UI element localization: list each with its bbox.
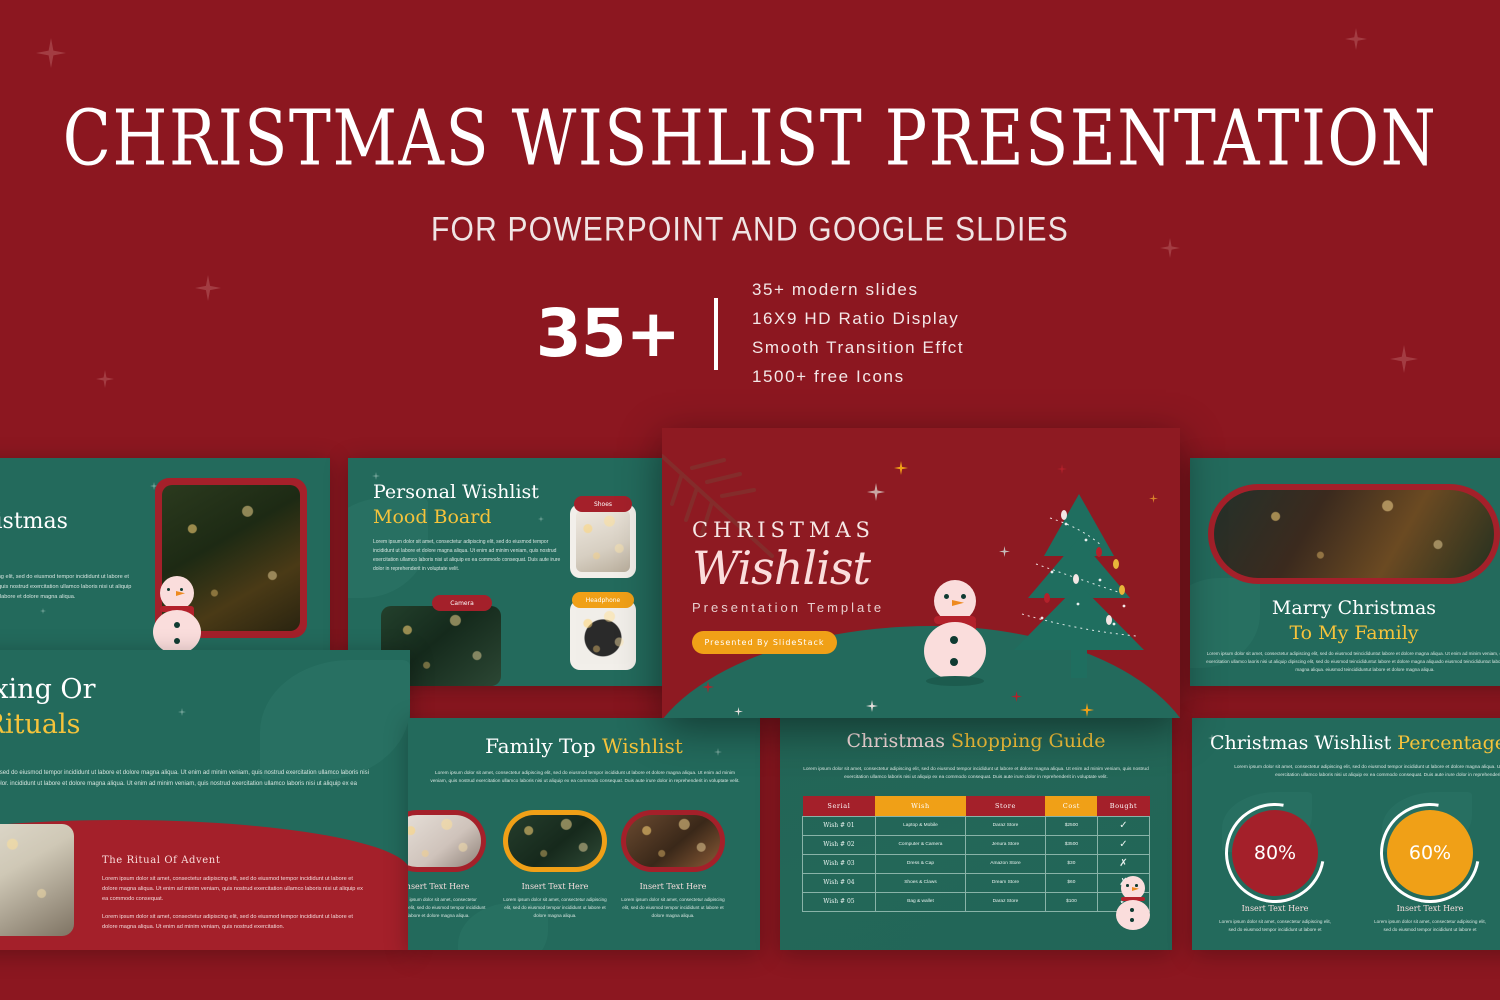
sparkle-icon xyxy=(999,546,1010,557)
col-bought: Bought xyxy=(1097,796,1149,816)
table-row: Wish # 01 Laptop & Mobile Daraz Store $2… xyxy=(803,816,1150,835)
sparkle-icon xyxy=(1149,494,1158,503)
slide-wishlist-percentage[interactable]: Christmas Wishlist Percentage Lorem ipsu… xyxy=(1192,718,1500,950)
cell-bought: ✓ xyxy=(1097,816,1149,835)
family-card-3 xyxy=(621,810,725,872)
shopping-table-wrap: Serial Wish Store Cost Bought Wish # 01 … xyxy=(802,796,1150,912)
mood-card-headphone xyxy=(570,600,636,670)
slide-mood-title-1: Personal Wishlist xyxy=(373,480,563,505)
feature-item: Smooth Transition Effct xyxy=(752,338,964,358)
feature-item: 16X9 HD Ratio Display xyxy=(752,309,964,329)
slide-merry-christmas[interactable]: Merry Christmas Everyone! Lorem ipsum do… xyxy=(0,458,330,658)
table-row: Wish # 03 Dress & Cap Amazon Store $30 ✗ xyxy=(803,854,1150,873)
cell-store: Daraz Store xyxy=(966,892,1046,911)
table-row: Wish # 02 Computer & Camera Jenura Store… xyxy=(803,835,1150,854)
cell-serial: Wish # 03 xyxy=(803,854,876,873)
slide-marry-title-1: Marry Christmas xyxy=(1208,596,1500,621)
mood-tag-camera: Camera xyxy=(432,595,492,611)
table-header-row: Serial Wish Store Cost Bought xyxy=(803,796,1150,816)
cell-serial: Wish # 01 xyxy=(803,816,876,835)
donut-heading: Insert Text Here xyxy=(1218,904,1332,913)
family-col-text: Lorem ipsum dolor sit amet, consectetur … xyxy=(408,896,486,920)
poster-stage: CHRISTMAS WISHLIST PRESENTATION FOR POWE… xyxy=(0,0,1500,1000)
donut-text: Lorem ipsum dolor sit amet, consectetur … xyxy=(1218,918,1332,934)
family-card-1 xyxy=(408,810,486,872)
slide-gift-unboxing[interactable]: Gift Unboxing Or Opening Rituals Lorem i… xyxy=(0,650,410,950)
cell-cost: $2500 xyxy=(1045,816,1097,835)
featured-subtitle: Presentation Template xyxy=(692,600,932,615)
slide-marry-family[interactable]: Marry Christmas To My Family Lorem ipsum… xyxy=(1190,458,1500,686)
donut-chart-1: 80% xyxy=(1232,810,1318,896)
cell-serial: Wish # 02 xyxy=(803,835,876,854)
christmas-tree-icon xyxy=(1014,494,1144,684)
slide-shopping-title-gold: Shopping Guide xyxy=(951,730,1105,752)
slide-count: 35+ xyxy=(536,301,680,367)
cell-wish: Bag & wallet xyxy=(875,892,965,911)
feature-strip: 35+ 35+ modern slides 16X9 HD Ratio Disp… xyxy=(0,280,1500,387)
family-col-text: Lorem ipsum dolor sit amet, consectetur … xyxy=(621,896,725,920)
slide-unboxing-title-2: Opening Rituals xyxy=(0,707,290,742)
cell-serial: Wish # 05 xyxy=(803,892,876,911)
feature-item: 35+ modern slides xyxy=(752,280,964,300)
cell-store: Amazon Store xyxy=(966,854,1046,873)
feature-list: 35+ modern slides 16X9 HD Ratio Display … xyxy=(752,280,964,387)
cell-cost: $3500 xyxy=(1045,835,1097,854)
cell-wish: Dress & Cap xyxy=(875,854,965,873)
sparkle-icon xyxy=(867,483,885,501)
cell-bought: ✓ xyxy=(1097,835,1149,854)
slide-unboxing-body: Lorem ipsum dolor sit amet, consectetur … xyxy=(0,768,372,800)
feature-item: 1500+ free Icons xyxy=(752,367,964,387)
cell-store: Daraz Store xyxy=(966,816,1046,835)
shopping-table: Serial Wish Store Cost Bought Wish # 01 … xyxy=(802,796,1150,912)
featured-eyebrow: CHRISTMAS xyxy=(692,518,932,542)
family-col-heading: Insert Text Here xyxy=(503,882,607,891)
family-card-2 xyxy=(503,810,607,872)
slide-family-wishlist[interactable]: Family Top Wishlist Lorem ipsum dolor si… xyxy=(408,718,760,950)
sparkle-icon xyxy=(1057,464,1067,474)
cell-serial: Wish # 04 xyxy=(803,873,876,892)
page-subtitle: FOR POWERPOINT AND GOOGLE SLDIES xyxy=(0,210,1500,249)
col-cost: Cost xyxy=(1045,796,1097,816)
cell-store: Jenura Store xyxy=(966,835,1046,854)
snowman-icon xyxy=(920,580,988,690)
slide-merry-title-2: Everyone! xyxy=(0,536,138,564)
feature-divider xyxy=(714,298,718,370)
family-col-heading: Insert Text Here xyxy=(408,882,486,891)
family-col-text: Lorem ipsum dolor sit amet, consectetur … xyxy=(503,896,607,920)
slide-percentage-body: Lorem ipsum dolor sit amet, consectetur … xyxy=(1222,764,1500,781)
cell-cost: $30 xyxy=(1045,854,1097,873)
cell-cost: $60 xyxy=(1045,873,1097,892)
slide-family-title-white: Family Top xyxy=(485,734,602,758)
table-row: Wish # 05 Bag & wallet Daraz Store $100 … xyxy=(803,892,1150,911)
snowman-icon xyxy=(146,576,208,648)
slide-family-title-gold: Wishlist xyxy=(602,734,683,758)
cell-wish: Computer & Camera xyxy=(875,835,965,854)
col-wish: Wish xyxy=(875,796,965,816)
slide-shopping-body: Lorem ipsum dolor sit amet, consectetur … xyxy=(796,766,1156,783)
slide-mood-body: Lorem ipsum dolor sit amet, consectetur … xyxy=(373,538,563,573)
table-row: Wish # 04 Shoes & Claws Dream Store $60 … xyxy=(803,873,1150,892)
advent-card-p1: Lorem ipsum dolor sit amet, consectetur … xyxy=(102,874,368,904)
slide-percentage-title-gold: Percentage xyxy=(1397,732,1500,754)
family-col-heading: Insert Text Here xyxy=(621,882,725,891)
mood-tag-shoes: Shoes xyxy=(574,496,632,512)
donut-text: Lorem ipsum dolor sit amet, consectetur … xyxy=(1373,918,1487,934)
slide-marry-title-2: To My Family xyxy=(1208,621,1500,646)
col-serial: Serial xyxy=(803,796,876,816)
mood-tag-headphone: Headphone xyxy=(572,592,634,608)
cell-wish: Shoes & Claws xyxy=(875,873,965,892)
page-title: CHRISTMAS WISHLIST PRESENTATION xyxy=(0,100,1500,177)
donut-heading: Insert Text Here xyxy=(1373,904,1487,913)
slide-family-body: Lorem ipsum dolor sit amet, consectetur … xyxy=(426,770,744,787)
advent-card-title: The Ritual Of Advent xyxy=(102,855,368,866)
slide-shopping-guide[interactable]: Christmas Shopping Guide Lorem ipsum dol… xyxy=(780,718,1172,950)
advent-card-p2: Lorem ipsum dolor sit amet, consectetur … xyxy=(102,912,368,932)
table-body: Wish # 01 Laptop & Mobile Daraz Store $2… xyxy=(803,816,1150,911)
cell-cost: $100 xyxy=(1045,892,1097,911)
slide-marry-body: Lorem ipsum dolor sit amet, consectetur … xyxy=(1200,650,1500,674)
cell-bought: ✗ xyxy=(1097,854,1149,873)
photo-gifts xyxy=(0,824,74,936)
mood-card-shoes xyxy=(570,504,636,578)
slide-unboxing-title-1: Gift Unboxing Or xyxy=(0,672,290,707)
hero-header: CHRISTMAS WISHLIST PRESENTATION FOR POWE… xyxy=(0,0,1500,247)
donut-chart-2: 60% xyxy=(1387,810,1473,896)
col-store: Store xyxy=(966,796,1046,816)
featured-script-title: Wishlist xyxy=(692,544,932,592)
slide-shopping-title-white: Christmas xyxy=(847,730,951,752)
slide-featured-title[interactable]: CHRISTMAS Wishlist Presentation Template… xyxy=(662,428,1180,718)
slide-merry-title-1: Merry Christmas xyxy=(0,508,138,536)
presented-by-badge[interactable]: Presented By SlideStack xyxy=(692,631,837,654)
snowman-icon xyxy=(1112,876,1156,928)
cell-store: Dream Store xyxy=(966,873,1046,892)
photo-frame-family xyxy=(1208,484,1500,584)
slide-mood-title-2: Mood Board xyxy=(373,505,563,530)
slide-merry-body: Lorem ipsum dolor sit amet, consectetur … xyxy=(0,573,138,602)
sparkle-icon xyxy=(894,461,908,475)
slide-percentage-title-white: Christmas Wishlist xyxy=(1210,732,1397,754)
cell-wish: Laptop & Mobile xyxy=(875,816,965,835)
